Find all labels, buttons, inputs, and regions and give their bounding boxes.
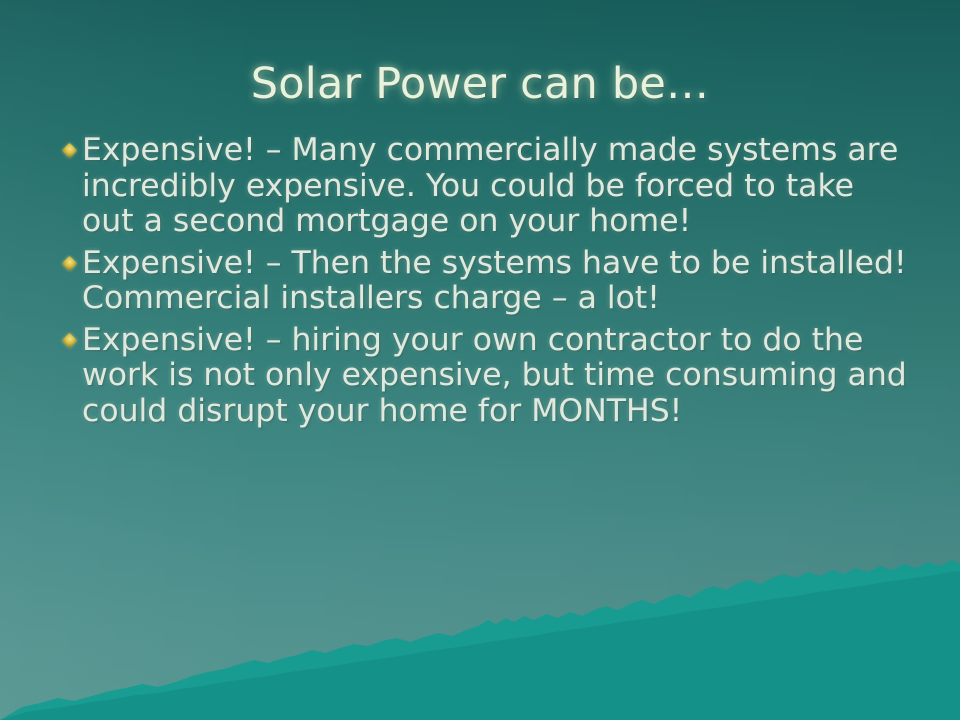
bullet-text: Expensive! – Then the systems have to be…: [82, 246, 912, 317]
diamond-bullet-icon: [56, 258, 82, 269]
diamond-bullet-icon: [56, 145, 82, 156]
mountain-silhouette-icon: [0, 560, 960, 720]
list-item: Expensive! – Many commercially made syst…: [56, 133, 912, 240]
bullet-text: Expensive! – Many commercially made syst…: [82, 133, 912, 240]
page-title: Solar Power can be…: [0, 62, 960, 107]
bullet-text: Expensive! – hiring your own contractor …: [82, 323, 912, 430]
slide-canvas: Solar Power can be… Expensive! – Many co…: [0, 0, 960, 720]
list-item: Expensive! – hiring your own contractor …: [56, 323, 912, 430]
bullet-list: Expensive! – Many commercially made syst…: [56, 133, 912, 435]
diamond-bullet-icon: [56, 335, 82, 346]
list-item: Expensive! – Then the systems have to be…: [56, 246, 912, 317]
